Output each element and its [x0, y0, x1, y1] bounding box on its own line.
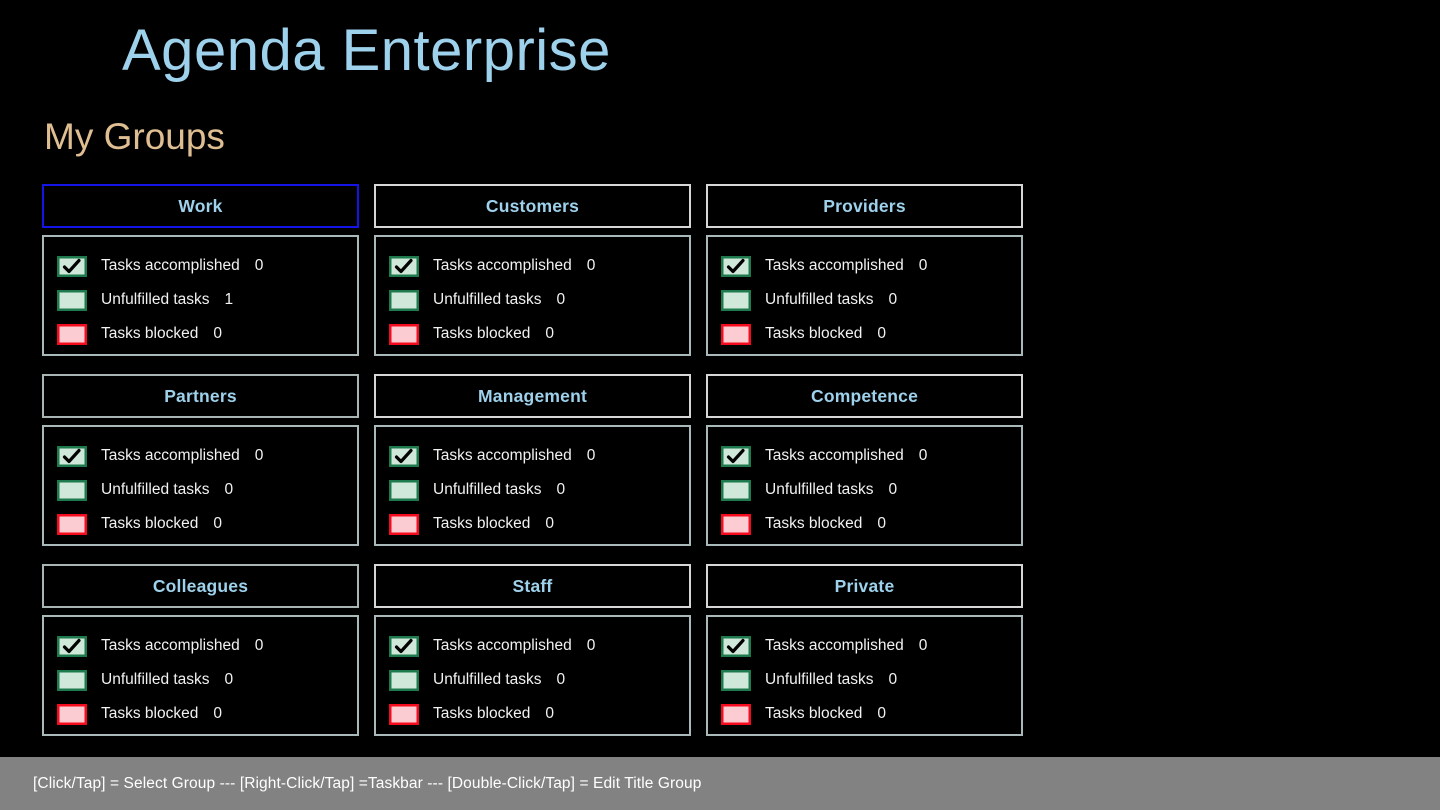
stat-label-unfulfilled: Unfulfilled tasks	[765, 291, 874, 309]
stat-row-blocked: Tasks blocked0	[389, 697, 689, 731]
group-card-body: Tasks accomplished0Unfulfilled tasks0Tas…	[42, 615, 359, 736]
group-card-header[interactable]: Private	[706, 564, 1023, 608]
checkbox-checked-green-icon	[721, 636, 751, 657]
stat-label-unfulfilled: Unfulfilled tasks	[433, 671, 542, 689]
group-card-header[interactable]: Providers	[706, 184, 1023, 228]
stat-value-accomplished: 0	[919, 637, 928, 655]
stat-value-unfulfilled: 0	[557, 671, 566, 689]
stat-row-blocked: Tasks blocked0	[389, 317, 689, 351]
status-bar-hint-text: [Click/Tap] = Select Group --- [Right-Cl…	[33, 775, 701, 793]
stat-row-accomplished: Tasks accomplished0	[721, 249, 1021, 283]
stat-label-accomplished: Tasks accomplished	[433, 447, 572, 465]
group-card[interactable]: ProvidersTasks accomplished0Unfulfilled …	[706, 184, 1023, 356]
checkbox-empty-green-icon	[721, 480, 751, 501]
stat-row-blocked: Tasks blocked0	[721, 317, 1021, 351]
group-card-body: Tasks accomplished0Unfulfilled tasks0Tas…	[374, 615, 691, 736]
stat-row-accomplished: Tasks accomplished0	[389, 439, 689, 473]
stat-value-accomplished: 0	[587, 637, 596, 655]
checkbox-checked-green-icon	[389, 256, 419, 277]
checkbox-empty-red-icon	[721, 324, 751, 345]
stat-row-blocked: Tasks blocked0	[57, 317, 357, 351]
stat-label-blocked: Tasks blocked	[433, 515, 530, 533]
stat-row-accomplished: Tasks accomplished0	[57, 439, 357, 473]
group-card-body: Tasks accomplished0Unfulfilled tasks0Tas…	[42, 425, 359, 546]
group-title: Work	[178, 196, 222, 217]
group-title: Management	[478, 386, 587, 407]
group-card-body: Tasks accomplished0Unfulfilled tasks0Tas…	[706, 235, 1023, 356]
stat-label-blocked: Tasks blocked	[765, 325, 862, 343]
group-card-header[interactable]: Management	[374, 374, 691, 418]
checkbox-empty-green-icon	[721, 290, 751, 311]
checkbox-empty-red-icon	[389, 324, 419, 345]
stat-row-blocked: Tasks blocked0	[721, 507, 1021, 541]
group-card[interactable]: CompetenceTasks accomplished0Unfulfilled…	[706, 374, 1023, 546]
stat-value-unfulfilled: 0	[889, 481, 898, 499]
stat-value-unfulfilled: 1	[225, 291, 234, 309]
stat-label-unfulfilled: Unfulfilled tasks	[433, 481, 542, 499]
stat-label-unfulfilled: Unfulfilled tasks	[101, 481, 210, 499]
stat-value-unfulfilled: 0	[557, 291, 566, 309]
group-title: Partners	[164, 386, 237, 407]
stat-value-blocked: 0	[213, 515, 222, 533]
stat-label-accomplished: Tasks accomplished	[765, 637, 904, 655]
stat-row-unfulfilled: Unfulfilled tasks0	[389, 283, 689, 317]
stat-value-unfulfilled: 0	[557, 481, 566, 499]
stat-label-blocked: Tasks blocked	[433, 705, 530, 723]
stat-value-unfulfilled: 0	[889, 671, 898, 689]
checkbox-empty-red-icon	[389, 704, 419, 725]
checkbox-empty-red-icon	[389, 514, 419, 535]
stat-value-blocked: 0	[877, 515, 886, 533]
stat-label-blocked: Tasks blocked	[765, 515, 862, 533]
group-card[interactable]: PrivateTasks accomplished0Unfulfilled ta…	[706, 564, 1023, 736]
stat-label-unfulfilled: Unfulfilled tasks	[101, 291, 210, 309]
stat-row-accomplished: Tasks accomplished0	[57, 249, 357, 283]
stat-row-accomplished: Tasks accomplished0	[721, 629, 1021, 663]
group-card-header[interactable]: Customers	[374, 184, 691, 228]
group-title: Colleagues	[153, 576, 248, 597]
stat-label-blocked: Tasks blocked	[765, 705, 862, 723]
stat-row-unfulfilled: Unfulfilled tasks0	[389, 473, 689, 507]
stat-row-unfulfilled: Unfulfilled tasks0	[389, 663, 689, 697]
group-card-header[interactable]: Partners	[42, 374, 359, 418]
checkbox-checked-green-icon	[389, 446, 419, 467]
group-card[interactable]: ColleaguesTasks accomplished0Unfulfilled…	[42, 564, 359, 736]
group-card[interactable]: PartnersTasks accomplished0Unfulfilled t…	[42, 374, 359, 546]
checkbox-checked-green-icon	[721, 256, 751, 277]
stat-label-accomplished: Tasks accomplished	[433, 637, 572, 655]
stat-row-blocked: Tasks blocked0	[721, 697, 1021, 731]
stat-label-unfulfilled: Unfulfilled tasks	[433, 291, 542, 309]
stat-value-accomplished: 0	[255, 447, 264, 465]
stat-label-accomplished: Tasks accomplished	[765, 257, 904, 275]
group-card-body: Tasks accomplished0Unfulfilled tasks0Tas…	[706, 425, 1023, 546]
checkbox-empty-green-icon	[389, 670, 419, 691]
stat-value-unfulfilled: 0	[225, 671, 234, 689]
app-title: Agenda Enterprise	[122, 18, 611, 85]
stat-label-blocked: Tasks blocked	[101, 515, 198, 533]
stat-row-unfulfilled: Unfulfilled tasks0	[721, 663, 1021, 697]
page-title: My Groups	[44, 115, 225, 159]
stat-label-unfulfilled: Unfulfilled tasks	[765, 671, 874, 689]
stat-row-accomplished: Tasks accomplished0	[57, 629, 357, 663]
checkbox-empty-green-icon	[57, 670, 87, 691]
stat-value-unfulfilled: 0	[889, 291, 898, 309]
checkbox-empty-red-icon	[57, 324, 87, 345]
stat-row-blocked: Tasks blocked0	[389, 507, 689, 541]
checkbox-checked-green-icon	[57, 446, 87, 467]
checkbox-empty-red-icon	[57, 704, 87, 725]
checkbox-empty-green-icon	[57, 480, 87, 501]
stat-label-accomplished: Tasks accomplished	[101, 447, 240, 465]
stat-row-unfulfilled: Unfulfilled tasks0	[57, 473, 357, 507]
stat-value-blocked: 0	[877, 705, 886, 723]
stat-label-accomplished: Tasks accomplished	[101, 637, 240, 655]
stat-value-accomplished: 0	[919, 447, 928, 465]
status-bar: [Click/Tap] = Select Group --- [Right-Cl…	[0, 757, 1440, 810]
group-card-body: Tasks accomplished0Unfulfilled tasks0Tas…	[706, 615, 1023, 736]
group-title: Customers	[486, 196, 579, 217]
group-card[interactable]: CustomersTasks accomplished0Unfulfilled …	[374, 184, 691, 356]
stat-label-accomplished: Tasks accomplished	[433, 257, 572, 275]
group-title: Staff	[513, 576, 553, 597]
group-card[interactable]: StaffTasks accomplished0Unfulfilled task…	[374, 564, 691, 736]
groups-grid: WorkTasks accomplished0Unfulfilled tasks…	[42, 184, 1039, 736]
stat-value-accomplished: 0	[919, 257, 928, 275]
stat-label-blocked: Tasks blocked	[101, 325, 198, 343]
group-card-header[interactable]: Staff	[374, 564, 691, 608]
stat-value-blocked: 0	[545, 515, 554, 533]
stat-row-accomplished: Tasks accomplished0	[721, 439, 1021, 473]
group-card-body: Tasks accomplished0Unfulfilled tasks0Tas…	[374, 425, 691, 546]
checkbox-empty-green-icon	[57, 290, 87, 311]
checkbox-empty-red-icon	[721, 514, 751, 535]
stat-value-blocked: 0	[213, 705, 222, 723]
stat-row-unfulfilled: Unfulfilled tasks0	[57, 663, 357, 697]
stat-value-accomplished: 0	[255, 637, 264, 655]
group-title: Private	[835, 576, 895, 597]
stat-value-accomplished: 0	[255, 257, 264, 275]
group-card[interactable]: WorkTasks accomplished0Unfulfilled tasks…	[42, 184, 359, 356]
stat-row-accomplished: Tasks accomplished0	[389, 629, 689, 663]
checkbox-empty-green-icon	[389, 290, 419, 311]
stat-row-accomplished: Tasks accomplished0	[389, 249, 689, 283]
checkbox-checked-green-icon	[721, 446, 751, 467]
stat-value-blocked: 0	[213, 325, 222, 343]
stat-row-unfulfilled: Unfulfilled tasks0	[721, 283, 1021, 317]
stat-value-accomplished: 0	[587, 257, 596, 275]
stat-label-accomplished: Tasks accomplished	[765, 447, 904, 465]
checkbox-empty-red-icon	[721, 704, 751, 725]
stat-row-unfulfilled: Unfulfilled tasks1	[57, 283, 357, 317]
group-card[interactable]: ManagementTasks accomplished0Unfulfilled…	[374, 374, 691, 546]
group-card-header[interactable]: Colleagues	[42, 564, 359, 608]
stat-row-blocked: Tasks blocked0	[57, 507, 357, 541]
stat-label-blocked: Tasks blocked	[101, 705, 198, 723]
stat-value-blocked: 0	[877, 325, 886, 343]
stat-value-blocked: 0	[545, 325, 554, 343]
stat-label-unfulfilled: Unfulfilled tasks	[101, 671, 210, 689]
checkbox-checked-green-icon	[57, 256, 87, 277]
group-card-body: Tasks accomplished0Unfulfilled tasks1Tas…	[42, 235, 359, 356]
checkbox-checked-green-icon	[389, 636, 419, 657]
checkbox-checked-green-icon	[57, 636, 87, 657]
group-title: Providers	[823, 196, 906, 217]
group-card-header[interactable]: Competence	[706, 374, 1023, 418]
checkbox-empty-green-icon	[389, 480, 419, 501]
checkbox-empty-red-icon	[57, 514, 87, 535]
stat-value-blocked: 0	[545, 705, 554, 723]
stat-label-blocked: Tasks blocked	[433, 325, 530, 343]
stat-label-accomplished: Tasks accomplished	[101, 257, 240, 275]
group-title: Competence	[811, 386, 918, 407]
stat-value-accomplished: 0	[587, 447, 596, 465]
checkbox-empty-green-icon	[721, 670, 751, 691]
stat-value-unfulfilled: 0	[225, 481, 234, 499]
group-card-body: Tasks accomplished0Unfulfilled tasks0Tas…	[374, 235, 691, 356]
stat-row-blocked: Tasks blocked0	[57, 697, 357, 731]
group-card-header[interactable]: Work	[42, 184, 359, 228]
stat-label-unfulfilled: Unfulfilled tasks	[765, 481, 874, 499]
stat-row-unfulfilled: Unfulfilled tasks0	[721, 473, 1021, 507]
